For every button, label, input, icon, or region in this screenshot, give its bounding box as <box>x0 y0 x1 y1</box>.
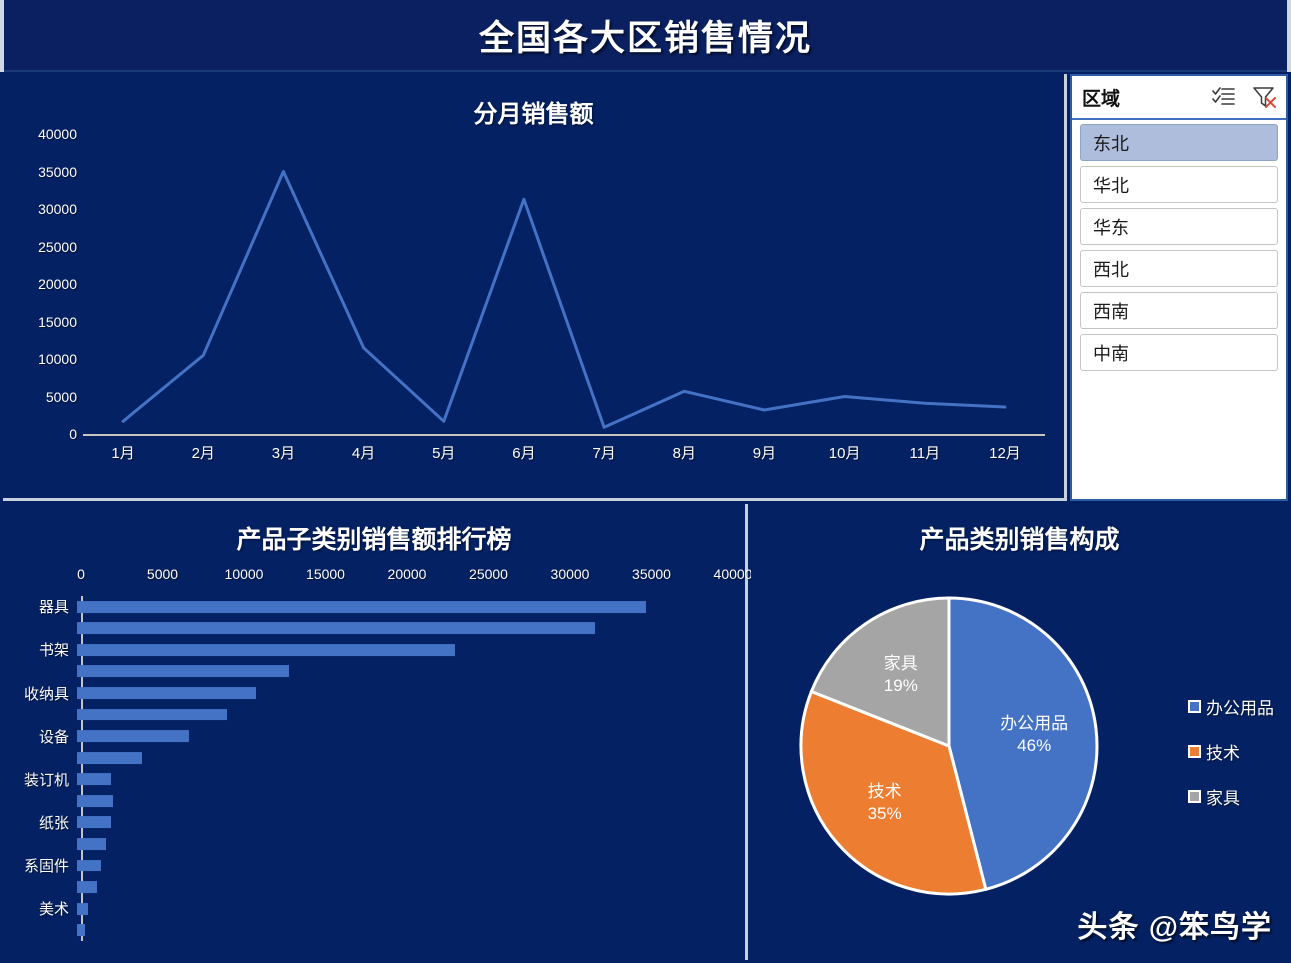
slicer-item-6[interactable]: 中南 <box>1080 334 1278 371</box>
bar-rows: 器具书架收纳具设备装订机纸张系固件美术 <box>3 596 748 941</box>
bar-category-label: 器具 <box>3 596 77 617</box>
bar-fill <box>77 622 595 634</box>
line-y-tick: 30000 <box>11 201 77 217</box>
line-y-axis: 4000035000300002500020000150001000050000 <box>3 134 77 434</box>
bar-fill <box>77 666 289 678</box>
pie-legend-item: 家具 <box>1188 784 1274 809</box>
bar-fill <box>77 838 106 850</box>
bar-track <box>77 747 748 769</box>
slicer-item-2[interactable]: 华北 <box>1080 166 1278 203</box>
monthly-sales-panel: 分月销售额 4000035000300002500020000150001000… <box>3 74 1067 501</box>
bar-category-label: 美术 <box>3 898 77 919</box>
line-chart: 4000035000300002500020000150001000050000… <box>3 134 1067 494</box>
bar-fill <box>77 816 111 828</box>
bar-category-label: 书架 <box>3 639 77 660</box>
bar-fill <box>77 903 88 915</box>
bar-row: 收纳具 <box>3 682 748 704</box>
title-edge-left <box>0 0 4 72</box>
bar-x-tick: 25000 <box>469 566 508 582</box>
clear-filter-icon[interactable] <box>1252 86 1276 108</box>
bar-track <box>77 855 748 877</box>
dashboard: 全国各大区销售情况 分月销售额 400003500030000250002000… <box>0 0 1291 963</box>
bar-fill <box>77 644 455 656</box>
bar-fill <box>77 730 189 742</box>
bar-x-tick: 15000 <box>306 566 345 582</box>
bar-x-tick: 5000 <box>147 566 178 582</box>
slicer-item-4[interactable]: 西北 <box>1080 250 1278 287</box>
bar-fill <box>77 752 142 764</box>
bar-track <box>77 661 748 683</box>
bar-category-label: 装订机 <box>3 769 77 790</box>
bar-x-tick: 0 <box>77 566 85 582</box>
bar-row: 系固件 <box>3 855 748 877</box>
pie-legend: 办公用品技术家具 <box>1188 694 1274 809</box>
bar-row <box>3 876 748 898</box>
bar-category-label: 设备 <box>3 726 77 747</box>
bar-track <box>77 790 748 812</box>
bar-category-label: 系固件 <box>3 855 77 876</box>
line-x-tick: 12月 <box>965 442 1045 472</box>
line-x-tick: 8月 <box>644 442 724 472</box>
slicer-header: 区域 <box>1072 76 1286 120</box>
bar-row <box>3 661 748 683</box>
pie-slice-value: 46% <box>1017 736 1051 755</box>
pie-legend-label: 办公用品 <box>1206 694 1274 719</box>
bar-track <box>77 704 748 726</box>
line-x-axis-line <box>83 434 1045 436</box>
line-x-tick: 11月 <box>885 442 965 472</box>
pie-legend-label: 技术 <box>1206 739 1240 764</box>
bar-track <box>77 639 748 661</box>
pie-slice-label: 家具 <box>884 654 918 673</box>
pie-slice-value: 19% <box>884 676 918 695</box>
line-y-tick: 25000 <box>11 239 77 255</box>
pie-svg: 办公用品46%技术35%家具19% <box>799 591 1099 901</box>
line-x-tick: 2月 <box>163 442 243 472</box>
bar-row: 纸张 <box>3 812 748 834</box>
bar-track <box>77 596 748 618</box>
page-title: 全国各大区销售情况 <box>479 10 812 61</box>
line-chart-title: 分月销售额 <box>3 74 1064 129</box>
bar-chart-title: 产品子类别销售额排行榜 <box>3 504 745 556</box>
bar-row <box>3 618 748 640</box>
bar-x-axis-labels: 0500010000150002000025000300003500040000 <box>81 566 733 592</box>
line-y-tick: 5000 <box>11 389 77 405</box>
line-x-tick: 10月 <box>805 442 885 472</box>
bar-row <box>3 747 748 769</box>
slicer-item-5[interactable]: 西南 <box>1080 292 1278 329</box>
line-plot-area <box>83 134 1045 434</box>
bar-fill <box>77 773 111 785</box>
bar-fill <box>77 709 227 721</box>
slicer-item-list: 东北华北华东西北西南中南 <box>1072 120 1286 371</box>
slicer-icon-group <box>1212 86 1276 108</box>
bar-category-label: 纸张 <box>3 812 77 833</box>
line-series-svg <box>83 134 1045 434</box>
pie-legend-item: 办公用品 <box>1188 694 1274 719</box>
pie-slice-label: 办公用品 <box>1000 714 1068 733</box>
bar-fill <box>77 687 256 699</box>
bar-x-tick: 35000 <box>632 566 671 582</box>
bar-row <box>3 833 748 855</box>
pie-legend-swatch <box>1188 790 1201 803</box>
line-x-tick: 9月 <box>724 442 804 472</box>
bar-track <box>77 618 748 640</box>
line-y-tick: 20000 <box>11 276 77 292</box>
pie-legend-swatch <box>1188 700 1201 713</box>
bar-fill <box>77 881 97 893</box>
bar-row <box>3 790 748 812</box>
bar-track <box>77 725 748 747</box>
slicer-item-3[interactable]: 华东 <box>1080 208 1278 245</box>
bar-row: 美术 <box>3 898 748 920</box>
line-x-tick: 4月 <box>324 442 404 472</box>
line-y-tick: 10000 <box>11 351 77 367</box>
bar-row: 书架 <box>3 639 748 661</box>
category-composition-panel: 产品类别销售构成 办公用品46%技术35%家具19% 办公用品技术家具 头条 @… <box>751 504 1288 960</box>
bar-track <box>77 682 748 704</box>
pie-legend-swatch <box>1188 745 1201 758</box>
line-x-tick: 6月 <box>484 442 564 472</box>
dashboard-title-bar: 全国各大区销售情况 <box>0 0 1291 72</box>
bar-fill <box>77 795 113 807</box>
bar-track <box>77 898 748 920</box>
bar-track <box>77 769 748 791</box>
pie-legend-label: 家具 <box>1206 784 1240 809</box>
bar-row: 器具 <box>3 596 748 618</box>
pie-slice-label: 技术 <box>868 782 902 801</box>
bar-track <box>77 919 748 941</box>
pie-slice-value: 35% <box>868 804 902 823</box>
line-series-path <box>123 172 1005 428</box>
bar-track <box>77 833 748 855</box>
bar-track <box>77 812 748 834</box>
bar-fill <box>77 924 85 936</box>
line-y-tick: 15000 <box>11 314 77 330</box>
pie-legend-item: 技术 <box>1188 739 1274 764</box>
bar-category-label: 收纳具 <box>3 683 77 704</box>
watermark: 头条 @笨鸟学 <box>1077 902 1272 946</box>
bar-row: 装订机 <box>3 769 748 791</box>
bar-row <box>3 704 748 726</box>
bar-fill <box>77 601 646 613</box>
slicer-title: 区域 <box>1082 84 1120 111</box>
pie-chart: 办公用品46%技术35%家具19% 办公用品技术家具 <box>751 566 1288 956</box>
multi-select-icon[interactable] <box>1212 86 1236 108</box>
bar-x-tick: 20000 <box>388 566 427 582</box>
line-x-tick: 1月 <box>83 442 163 472</box>
slicer-item-1[interactable]: 东北 <box>1080 124 1278 161</box>
line-x-tick: 5月 <box>404 442 484 472</box>
line-x-tick: 7月 <box>564 442 644 472</box>
line-x-axis-labels: 1月2月3月4月5月6月7月8月9月10月11月12月 <box>83 442 1045 472</box>
bar-x-tick: 40000 <box>714 566 753 582</box>
region-slicer[interactable]: 区域 <box>1070 74 1288 501</box>
line-y-tick: 35000 <box>11 164 77 180</box>
bar-row <box>3 919 748 941</box>
subcategory-ranking-panel: 产品子类别销售额排行榜 0500010000150002000025000300… <box>3 504 748 960</box>
bar-chart: 0500010000150002000025000300003500040000… <box>3 566 748 956</box>
bar-row: 设备 <box>3 725 748 747</box>
pie-chart-title: 产品类别销售构成 <box>751 504 1288 556</box>
title-edge-right <box>1287 0 1291 72</box>
bar-fill <box>77 860 101 872</box>
line-y-tick: 0 <box>11 426 77 442</box>
bar-x-tick: 30000 <box>551 566 590 582</box>
bar-track <box>77 876 748 898</box>
line-y-tick: 40000 <box>11 126 77 142</box>
line-x-tick: 3月 <box>243 442 323 472</box>
bar-x-tick: 10000 <box>225 566 264 582</box>
